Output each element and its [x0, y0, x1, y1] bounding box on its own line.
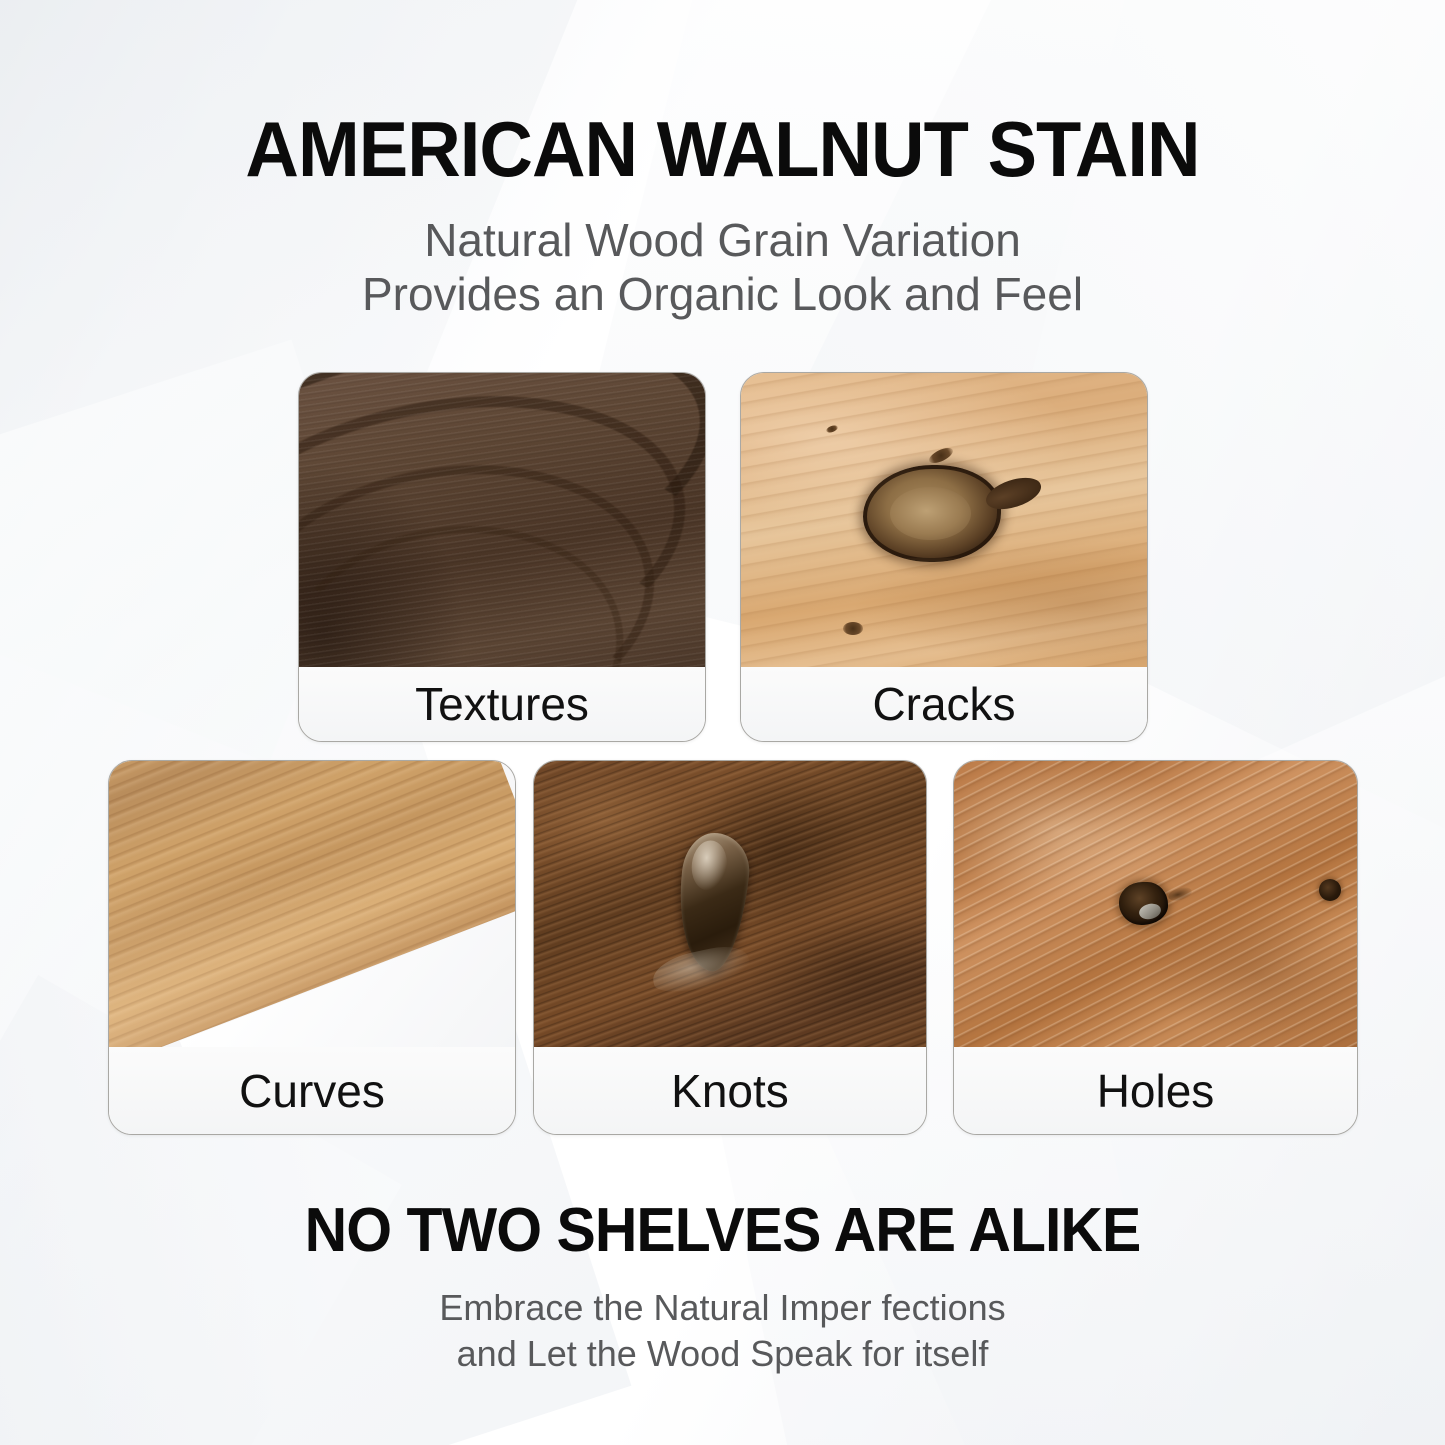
- holes-label-strip: Holes: [954, 1047, 1357, 1134]
- page-subtitle-line-2: Provides an Organic Look and Feel: [0, 267, 1445, 321]
- footer-subtitle: Embrace the Natural Imper fections and L…: [0, 1285, 1445, 1377]
- knots-label-strip: Knots: [534, 1047, 926, 1134]
- feature-card-cracks[interactable]: Cracks: [740, 372, 1148, 742]
- holes-hole-secondary: [1319, 879, 1341, 901]
- knots-photo: [534, 761, 926, 1049]
- feature-card-curves[interactable]: Curves: [108, 760, 516, 1135]
- textures-grain-lines: [299, 373, 705, 669]
- footer-title: NO TWO SHELVES ARE ALIKE: [36, 1195, 1409, 1266]
- curves-label: Curves: [239, 1064, 385, 1118]
- page-subtitle: Natural Wood Grain Variation Provides an…: [0, 213, 1445, 321]
- footer-subtitle-line-2: and Let the Wood Speak for itself: [0, 1331, 1445, 1377]
- infographic-poster: AMERICAN WALNUT STAIN Natural Wood Grain…: [0, 0, 1445, 1445]
- feature-card-textures[interactable]: Textures: [298, 372, 706, 742]
- holes-label: Holes: [1097, 1064, 1215, 1118]
- page-subtitle-line-1: Natural Wood Grain Variation: [0, 213, 1445, 267]
- holes-photo: [954, 761, 1357, 1049]
- curves-label-strip: Curves: [109, 1047, 515, 1134]
- textures-label: Textures: [415, 677, 589, 731]
- cracks-label: Cracks: [872, 677, 1015, 731]
- holes-hole: [1119, 882, 1167, 925]
- footer-subtitle-line-1: Embrace the Natural Imper fections: [0, 1285, 1445, 1331]
- cracks-label-strip: Cracks: [741, 667, 1147, 741]
- feature-card-knots[interactable]: Knots: [533, 760, 927, 1135]
- cracks-knot: [863, 465, 1001, 563]
- textures-label-strip: Textures: [299, 667, 705, 741]
- knots-label: Knots: [671, 1064, 789, 1118]
- curves-photo: [109, 761, 515, 1049]
- cracks-photo: [741, 373, 1147, 669]
- page-title: AMERICAN WALNUT STAIN: [36, 104, 1409, 195]
- feature-card-holes[interactable]: Holes: [953, 760, 1358, 1135]
- textures-photo: [299, 373, 705, 669]
